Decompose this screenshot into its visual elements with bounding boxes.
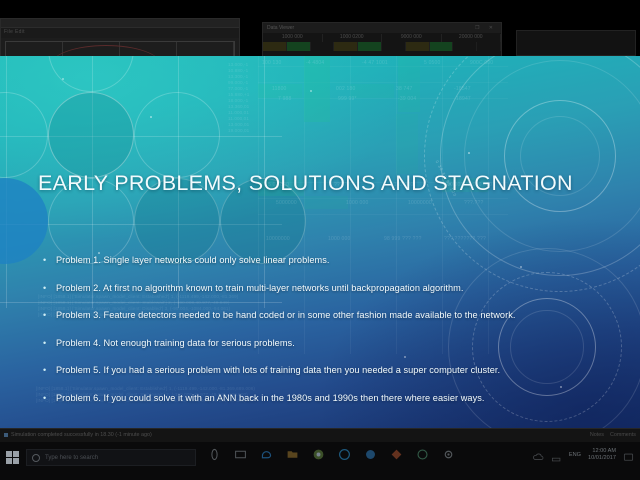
powerpoint-icon[interactable] <box>390 448 403 461</box>
presentation-slide[interactable]: 100 130 -4 4804 -4 47 1001 5 0500 900C 0… <box>0 56 640 428</box>
sheet-col-1: 1000 0200 <box>323 34 383 42</box>
background-window-right[interactable]: Data Viewer ❐ ✕ 1000 000 1000 0200 9000 … <box>262 22 502 56</box>
sheet-col-0: 1000 000 <box>263 34 323 42</box>
excel-icon[interactable] <box>416 448 429 461</box>
start-button[interactable] <box>6 451 19 464</box>
action-center-icon[interactable] <box>623 450 634 461</box>
search-icon <box>32 454 40 462</box>
bullet-marker-icon: • <box>40 282 56 296</box>
sheet-cells-row <box>263 42 501 51</box>
clock[interactable]: 12:00 AM 10/01/2017 <box>588 448 616 462</box>
status-bar-left: Simulation completed successfully in 18.… <box>4 432 152 438</box>
network-icon[interactable] <box>551 450 562 461</box>
status-comments-button[interactable]: Comments <box>610 432 636 438</box>
list-item: • Problem 5. If you had a serious proble… <box>40 364 585 378</box>
cortana-icon[interactable] <box>208 448 221 461</box>
window-title-right: Data Viewer <box>267 25 294 31</box>
chrome-icon[interactable] <box>312 448 325 461</box>
bullet-marker-icon: • <box>40 254 56 268</box>
slide-title: EARLY PROBLEMS, SOLUTIONS AND STAGNATION <box>38 171 573 196</box>
screen-root: File Edit Data Viewer ❐ ✕ 1000 000 1000 … <box>0 0 640 480</box>
slide-bullet-list: • Problem 1. Single layer networks could… <box>40 254 585 419</box>
task-view-icon[interactable] <box>234 448 247 461</box>
background-window-far-right[interactable] <box>516 30 636 56</box>
sheet-num-19: 1000 000 <box>346 200 368 206</box>
bullet-text: Problem 3. Feature detectors needed to b… <box>56 309 585 323</box>
list-item: • Problem 3. Feature detectors needed to… <box>40 309 585 323</box>
background-desktop-top: File Edit Data Viewer ❐ ✕ 1000 000 1000 … <box>0 0 640 56</box>
edge-icon[interactable] <box>260 448 273 461</box>
bullet-marker-icon: • <box>40 364 56 378</box>
sheet-num-3: -4 47 1001 <box>362 60 388 66</box>
status-notes-button[interactable]: Notes <box>590 432 604 438</box>
sheet-num-7: 002 180 <box>336 86 355 92</box>
sheet-header-row: 1000 000 1000 0200 9000 000 20000 000 <box>263 34 501 42</box>
status-bar: Simulation completed successfully in 18.… <box>0 428 640 442</box>
windows-taskbar[interactable]: Type here to search <box>0 442 640 480</box>
sheet-num-23: 1000 000 <box>328 236 350 242</box>
settings-icon[interactable] <box>442 448 455 461</box>
clock-time: 12:00 AM <box>588 448 616 455</box>
sheet-num-24: 98 999 ??? ??? <box>384 236 422 242</box>
sheet-num-11: 999 99* <box>338 96 357 102</box>
sheet-rows-right: 1000 000 1000 0200 9000 000 20000 000 <box>263 33 501 51</box>
sheet-num-12: -39 004 <box>398 96 416 102</box>
menu-bar-left[interactable]: File Edit <box>1 28 239 38</box>
sheet-num-10: 7 988 <box>278 96 292 102</box>
onedrive-icon[interactable] <box>533 450 544 461</box>
sheet-col-3: 20000 000 <box>442 34 502 42</box>
status-bar-right[interactable]: Notes Comments <box>590 432 636 438</box>
bullet-text: Problem 6. If you could solve it with an… <box>56 392 585 406</box>
search-placeholder: Type here to search <box>45 455 98 461</box>
status-icon <box>4 433 8 437</box>
clock-date: 10/01/2017 <box>588 455 616 462</box>
search-input[interactable]: Type here to search <box>26 449 196 466</box>
skype-icon[interactable] <box>338 448 351 461</box>
taskbar-tray[interactable]: ENG 12:00 AM 10/01/2017 <box>533 448 634 462</box>
bullet-marker-icon: • <box>40 392 56 406</box>
bullet-text: Problem 1. Single layer networks could o… <box>56 254 585 268</box>
bullet-text: Problem 4. Not enough training data for … <box>56 337 585 351</box>
list-item: • Problem 6. If you could solve it with … <box>40 392 585 406</box>
bullet-marker-icon: • <box>40 337 56 351</box>
outlook-icon[interactable] <box>364 448 377 461</box>
list-item: • Problem 2. At first no algorithm known… <box>40 282 585 296</box>
decor-code-bleed-left: 13.000,-1 10.880,-1 13.300,-1 99.000,-1 … <box>228 62 278 134</box>
sheet-col-2: 9000 000 <box>382 34 442 42</box>
window-titlebar-right[interactable]: Data Viewer ❐ ✕ <box>263 23 501 33</box>
window-titlebar-left[interactable] <box>1 19 239 28</box>
sheet-num-1: -4 4804 <box>306 60 324 66</box>
background-window-left[interactable]: File Edit <box>0 18 240 56</box>
bullet-text: Problem 2. At first no algorithm known t… <box>56 282 585 296</box>
sheet-num-22: 10000000 <box>266 236 290 242</box>
bullet-marker-icon: • <box>40 309 56 323</box>
list-item: • Problem 4. Not enough training data fo… <box>40 337 585 351</box>
sheet-num-18: 5000000 <box>276 200 297 206</box>
taskbar-icon-strip[interactable] <box>208 448 455 461</box>
window-controls-right[interactable]: ❐ ✕ <box>475 25 497 31</box>
list-item: • Problem 1. Single layer networks could… <box>40 254 585 268</box>
sheet-num-8: 38 747 <box>396 86 413 92</box>
language-indicator[interactable]: ENG <box>569 452 581 458</box>
status-message: Simulation completed successfully in 18.… <box>11 432 152 438</box>
file-explorer-icon[interactable] <box>286 448 299 461</box>
bullet-text: Problem 5. If you had a serious problem … <box>56 364 585 378</box>
